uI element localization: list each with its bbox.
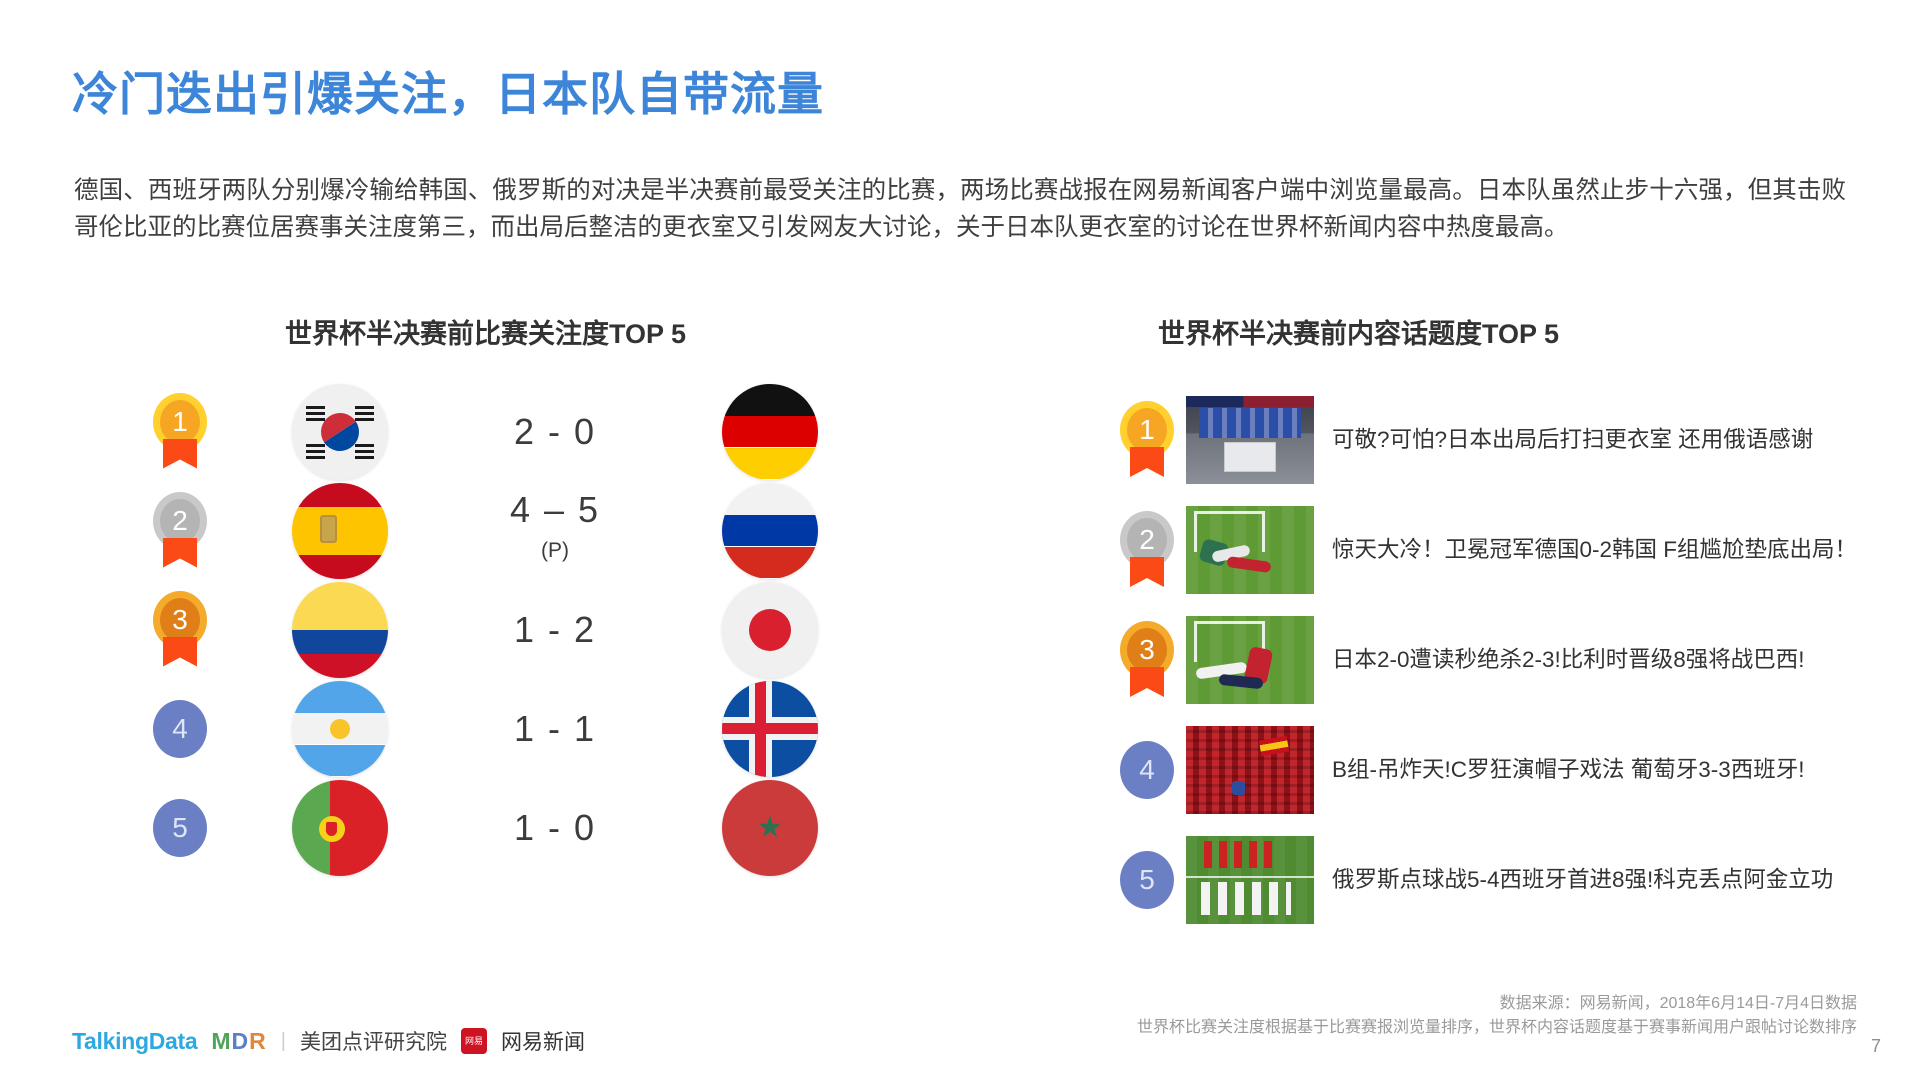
logo-talkingdata: TalkingData	[72, 1028, 197, 1055]
rank-cell: 3	[1108, 621, 1186, 699]
rank-cell: 4	[120, 700, 240, 758]
score-value: 4 – 5	[510, 489, 600, 530]
right-section-heading: 世界杯半决赛前内容话题度TOP 5	[1158, 312, 1559, 351]
news-ranking-list: 1 可敬?可怕?日本出局后打扫更衣室 还用俄语感谢 2 惊天大冷！卫冕冠军德国0…	[1108, 388, 1898, 938]
rank-label: 1	[172, 406, 188, 438]
rank-badge: 5	[1120, 851, 1174, 909]
flag-argentina-icon	[292, 681, 388, 777]
flag-portugal-icon	[292, 780, 388, 876]
table-row: 4 1 - 1	[120, 679, 940, 778]
list-item[interactable]: 4 B组-吊炸天!C罗狂演帽子戏法 葡萄牙3-3西班牙!	[1108, 718, 1898, 822]
score-cell: 4 – 5 (P)	[440, 490, 670, 571]
flag-morocco-icon: ★	[722, 780, 818, 876]
flag-iceland-icon	[722, 681, 818, 777]
rank-cell: 1	[1108, 401, 1186, 479]
news-thumbnail	[1186, 616, 1314, 704]
logo-meituan-research: 美团点评研究院	[300, 1026, 447, 1056]
list-item[interactable]: 1 可敬?可怕?日本出局后打扫更衣室 还用俄语感谢	[1108, 388, 1898, 492]
team-a-cell	[240, 483, 440, 579]
medal-gold-icon: 1	[151, 393, 209, 471]
rank-cell: 1	[120, 393, 240, 471]
news-headline: B组-吊炸天!C罗狂演帽子戏法 葡萄牙3-3西班牙!	[1332, 754, 1872, 786]
medal-bronze-icon: 3	[151, 591, 209, 669]
team-b-cell	[670, 582, 870, 678]
score-cell: 1 - 1	[440, 709, 670, 749]
rank-badge: 5	[153, 799, 207, 857]
source-note: 数据来源：网易新闻，2018年6月14日-7月4日数据 世界杯比赛关注度根据基于…	[1137, 992, 1857, 1040]
team-a-cell	[240, 384, 440, 480]
match-ranking-list: 1	[120, 382, 940, 877]
rank-label: 1	[1139, 414, 1155, 446]
list-item[interactable]: 5 俄罗斯点球战5-4西班牙首进8强!科克丢点阿金立功	[1108, 828, 1898, 932]
flag-germany-icon	[722, 384, 818, 480]
news-headline: 日本2-0遭读秒绝杀2-3!比利时晋级8强将战巴西!	[1332, 644, 1872, 676]
table-row: 2 4 – 5 (P)	[120, 481, 940, 580]
source-line-2: 世界杯比赛关注度根据基于比赛赛报浏览量排序，世界杯内容话题度基于赛事新闻用户跟帖…	[1137, 1016, 1857, 1040]
flag-korea-icon	[292, 384, 388, 480]
rank-cell: 5	[120, 799, 240, 857]
rank-label: 3	[172, 604, 188, 636]
team-a-cell	[240, 681, 440, 777]
rank-cell: 4	[1108, 741, 1186, 799]
rank-label: 5	[172, 812, 188, 844]
lede-paragraph: 德国、西班牙两队分别爆冷输给韩国、俄罗斯的对决是半决赛前最受关注的比赛，两场比赛…	[74, 172, 1846, 246]
news-thumbnail	[1186, 726, 1314, 814]
score-value: 1 - 0	[514, 807, 596, 848]
rank-cell: 3	[120, 591, 240, 669]
team-b-cell	[670, 681, 870, 777]
logo-mdr: MDR	[211, 1028, 266, 1055]
flag-japan-icon	[722, 582, 818, 678]
team-b-cell	[670, 483, 870, 579]
news-headline: 惊天大冷！卫冕冠军德国0-2韩国 F组尴尬垫底出局！	[1332, 534, 1872, 566]
rank-cell: 5	[1108, 851, 1186, 909]
page-number: 7	[1871, 1036, 1881, 1057]
rank-label: 2	[1139, 524, 1155, 556]
brand-bar: TalkingData MDR | 美团点评研究院 网易 网易新闻	[72, 1026, 585, 1056]
rank-cell: 2	[1108, 511, 1186, 589]
table-row: 3 1 - 2	[120, 580, 940, 679]
netease-mark-icon: 网易	[461, 1028, 487, 1054]
news-headline: 俄罗斯点球战5-4西班牙首进8强!科克丢点阿金立功	[1332, 864, 1872, 896]
logo-netease-news: 网易新闻	[501, 1026, 585, 1056]
medal-gold-icon: 1	[1118, 401, 1176, 479]
medal-bronze-icon: 3	[1118, 621, 1176, 699]
news-headline: 可敬?可怕?日本出局后打扫更衣室 还用俄语感谢	[1332, 424, 1872, 456]
medal-silver-icon: 2	[151, 492, 209, 570]
rank-cell: 2	[120, 492, 240, 570]
flag-russia-icon	[722, 483, 818, 579]
brand-separator: |	[281, 1030, 286, 1053]
news-thumbnail	[1186, 396, 1314, 484]
rank-label: 3	[1139, 634, 1155, 666]
score-cell: 1 - 2	[440, 610, 670, 650]
page-title: 冷门迭出引爆关注，日本队自带流量	[72, 58, 824, 124]
team-a-cell	[240, 582, 440, 678]
left-section-heading: 世界杯半决赛前比赛关注度TOP 5	[285, 312, 686, 351]
score-cell: 1 - 0	[440, 808, 670, 848]
source-line-1: 数据来源：网易新闻，2018年6月14日-7月4日数据	[1137, 992, 1857, 1016]
rank-badge: 4	[1120, 741, 1174, 799]
score-value: 2 - 0	[514, 411, 596, 452]
team-b-cell	[670, 384, 870, 480]
score-note: (P)	[440, 531, 670, 571]
rank-label: 4	[172, 713, 188, 745]
rank-badge: 4	[153, 700, 207, 758]
list-item[interactable]: 2 惊天大冷！卫冕冠军德国0-2韩国 F组尴尬垫底出局！	[1108, 498, 1898, 602]
medal-silver-icon: 2	[1118, 511, 1176, 589]
rank-label: 5	[1139, 864, 1155, 896]
news-thumbnail	[1186, 836, 1314, 924]
rank-label: 4	[1139, 754, 1155, 786]
table-row: 1	[120, 382, 940, 481]
team-a-cell	[240, 780, 440, 876]
flag-spain-icon	[292, 483, 388, 579]
score-value: 1 - 1	[514, 708, 596, 749]
team-b-cell: ★	[670, 780, 870, 876]
score-cell: 2 - 0	[440, 412, 670, 452]
list-item[interactable]: 3 日本2-0遭读秒绝杀2-3!比利时晋级8强将战巴西!	[1108, 608, 1898, 712]
score-value: 1 - 2	[514, 609, 596, 650]
news-thumbnail	[1186, 506, 1314, 594]
rank-label: 2	[172, 505, 188, 537]
flag-colombia-icon	[292, 582, 388, 678]
slide-page: 冷门迭出引爆关注，日本队自带流量 德国、西班牙两队分别爆冷输给韩国、俄罗斯的对决…	[0, 0, 1921, 1080]
table-row: 5 1 - 0 ★	[120, 778, 940, 877]
